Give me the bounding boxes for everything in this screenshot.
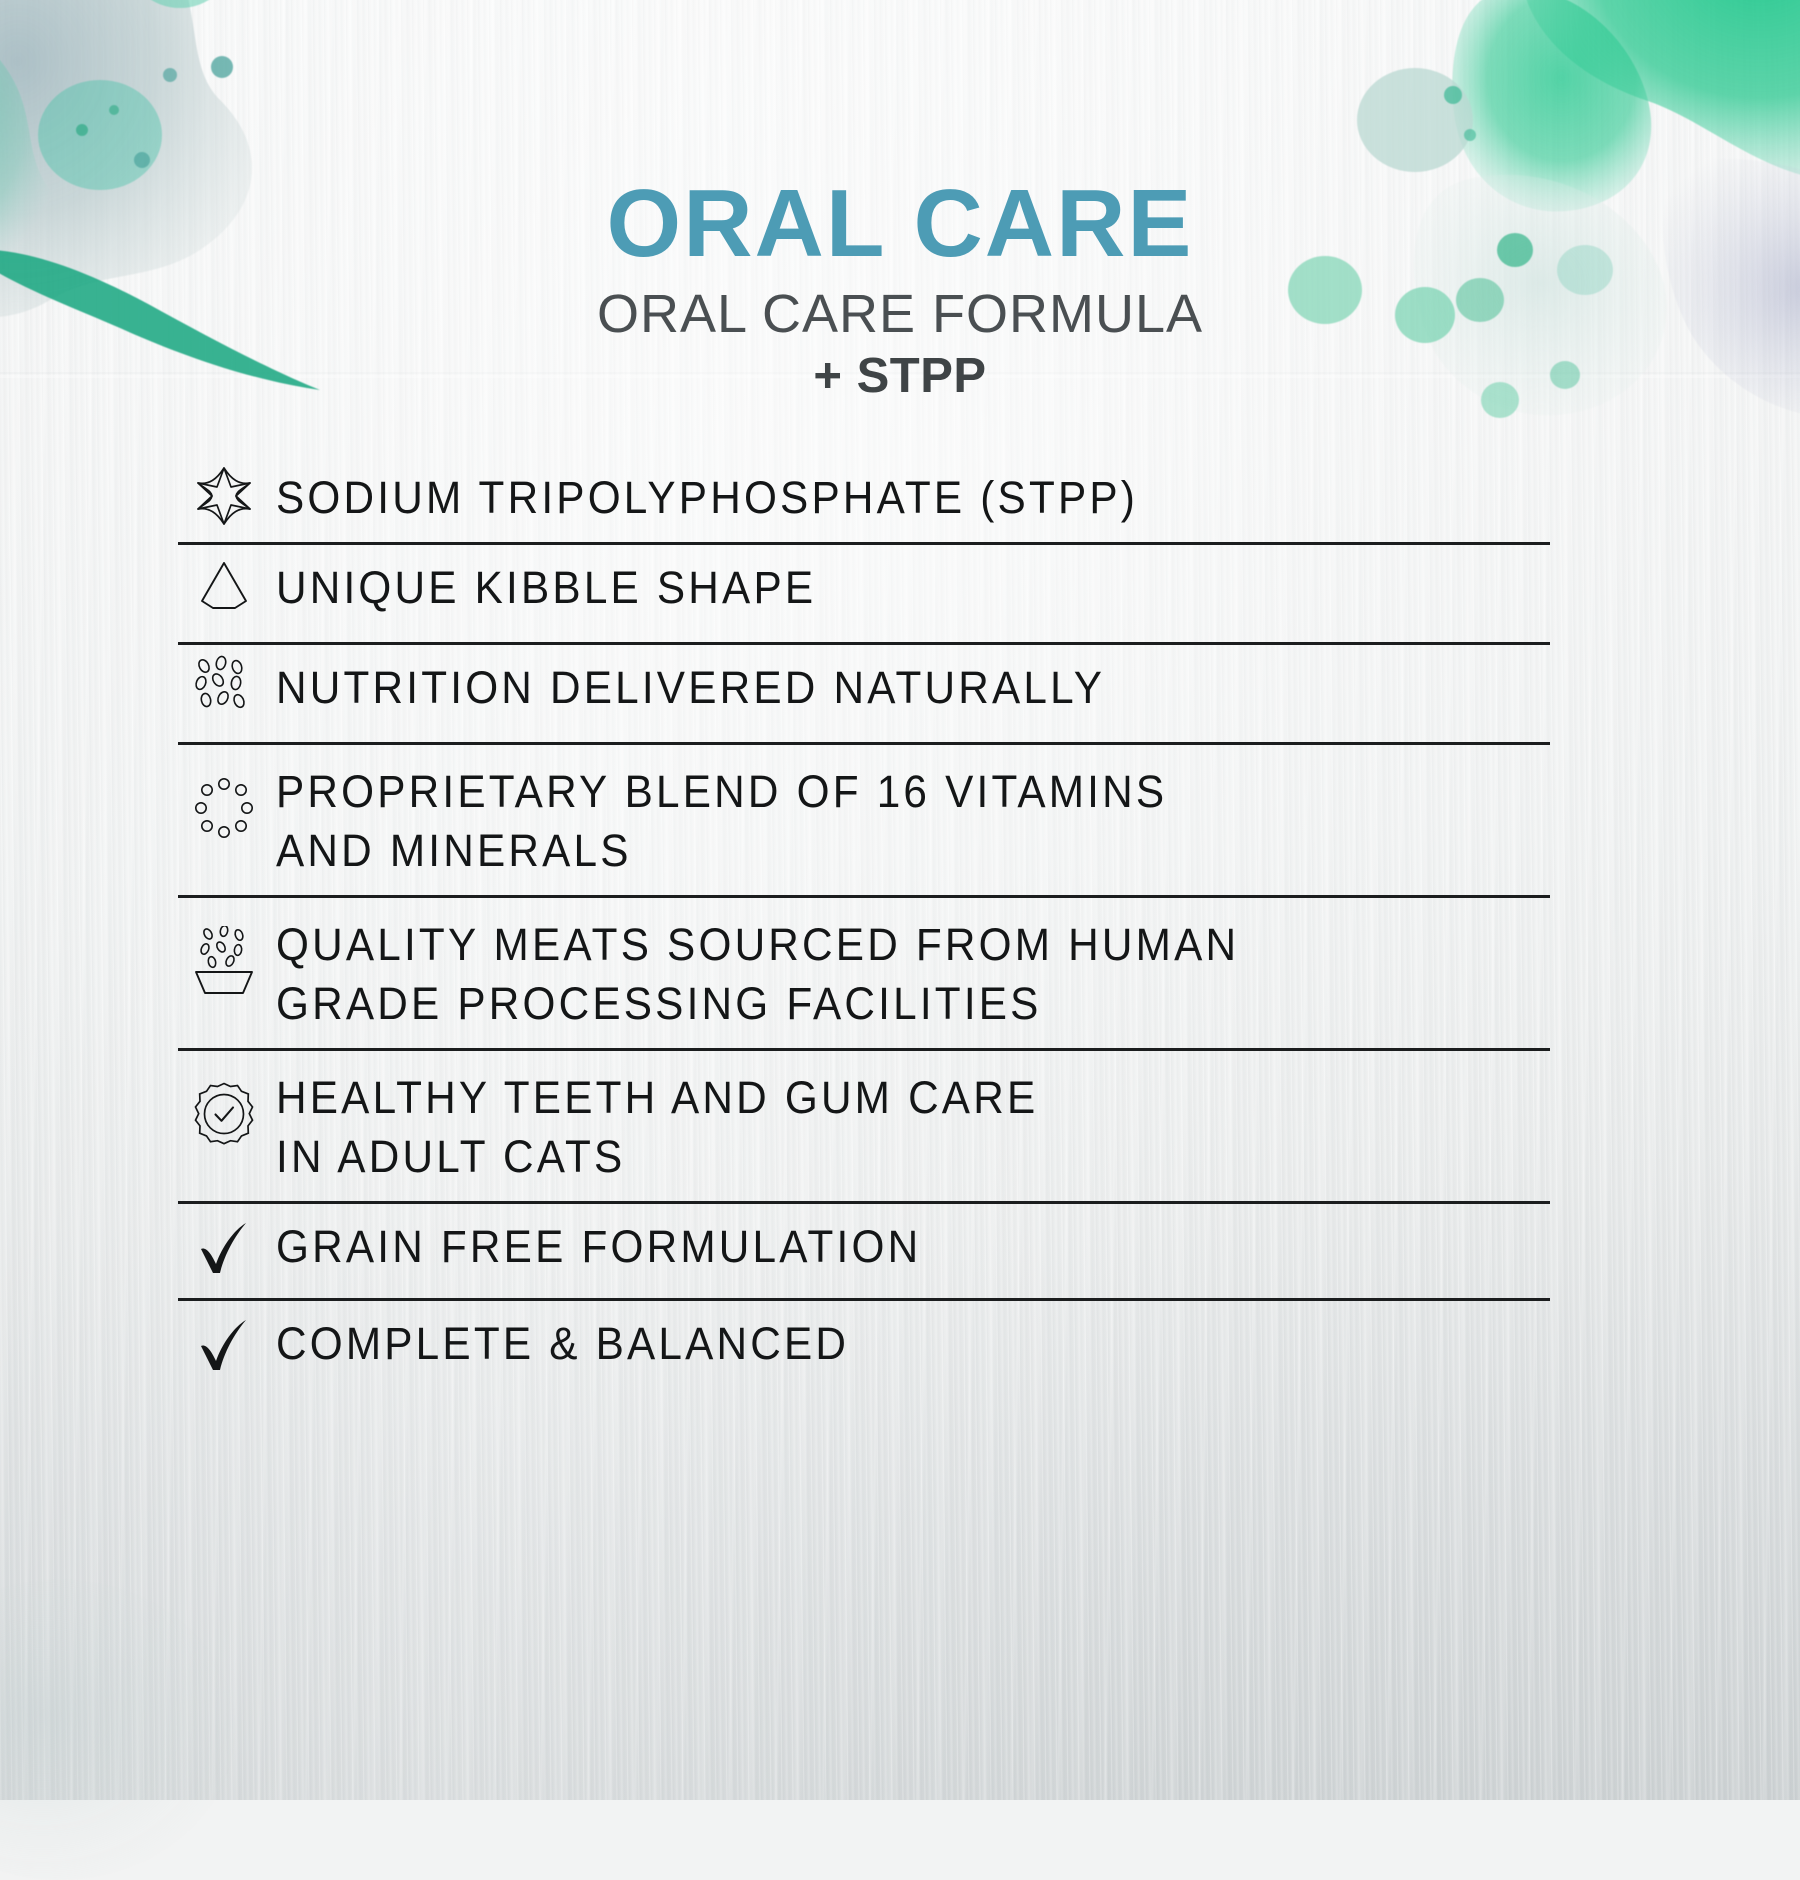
- feature-label: NUTRITION DELIVERED NATURALLY: [276, 645, 1474, 718]
- feature-row: GRAIN FREE FORMULATION: [178, 1204, 1550, 1301]
- page-title: ORAL CARE: [0, 176, 1800, 272]
- feature-label: SODIUM TRIPOLYPHOSPHATE (STPP): [276, 455, 1474, 528]
- food-bowl-icon: [178, 926, 270, 996]
- feature-list: SODIUM TRIPOLYPHOSPHATE (STPP) UNIQUE KI…: [178, 455, 1550, 1396]
- grains-cluster-icon: [178, 651, 270, 721]
- feature-label: COMPLETE & BALANCED: [276, 1301, 1474, 1374]
- page-subtitle: ORAL CARE FORMULA: [0, 286, 1800, 343]
- circle-ring-icon: [178, 773, 270, 843]
- feature-row: PROPRIETARY BLEND OF 16 VITAMINS AND MIN…: [178, 745, 1550, 898]
- feature-label: GRAIN FREE FORMULATION: [276, 1204, 1474, 1277]
- feature-row: SODIUM TRIPOLYPHOSPHATE (STPP): [178, 455, 1550, 545]
- feature-label: QUALITY MEATS SOURCED FROM HUMAN GRADE P…: [276, 898, 1474, 1033]
- title-block: ORAL CARE ORAL CARE FORMULA + STPP: [0, 176, 1800, 402]
- feature-row: COMPLETE & BALANCED: [178, 1301, 1550, 1396]
- feature-row: HEALTHY TEETH AND GUM CARE IN ADULT CATS: [178, 1051, 1550, 1204]
- kibble-triangle-icon: [178, 551, 270, 621]
- starburst-icon: [178, 461, 270, 531]
- feature-label: PROPRIETARY BLEND OF 16 VITAMINS AND MIN…: [276, 745, 1474, 880]
- feature-label: HEALTHY TEETH AND GUM CARE IN ADULT CATS: [276, 1051, 1474, 1186]
- badge-check-icon: [178, 1079, 270, 1149]
- page-subtitle-secondary: + STPP: [0, 351, 1800, 402]
- checkmark-icon: [178, 1214, 270, 1284]
- feature-row: UNIQUE KIBBLE SHAPE: [178, 545, 1550, 645]
- feature-row: QUALITY MEATS SOURCED FROM HUMAN GRADE P…: [178, 898, 1550, 1051]
- feature-row: NUTRITION DELIVERED NATURALLY: [178, 645, 1550, 745]
- feature-label: UNIQUE KIBBLE SHAPE: [276, 545, 1474, 618]
- checkmark-icon: [178, 1311, 270, 1381]
